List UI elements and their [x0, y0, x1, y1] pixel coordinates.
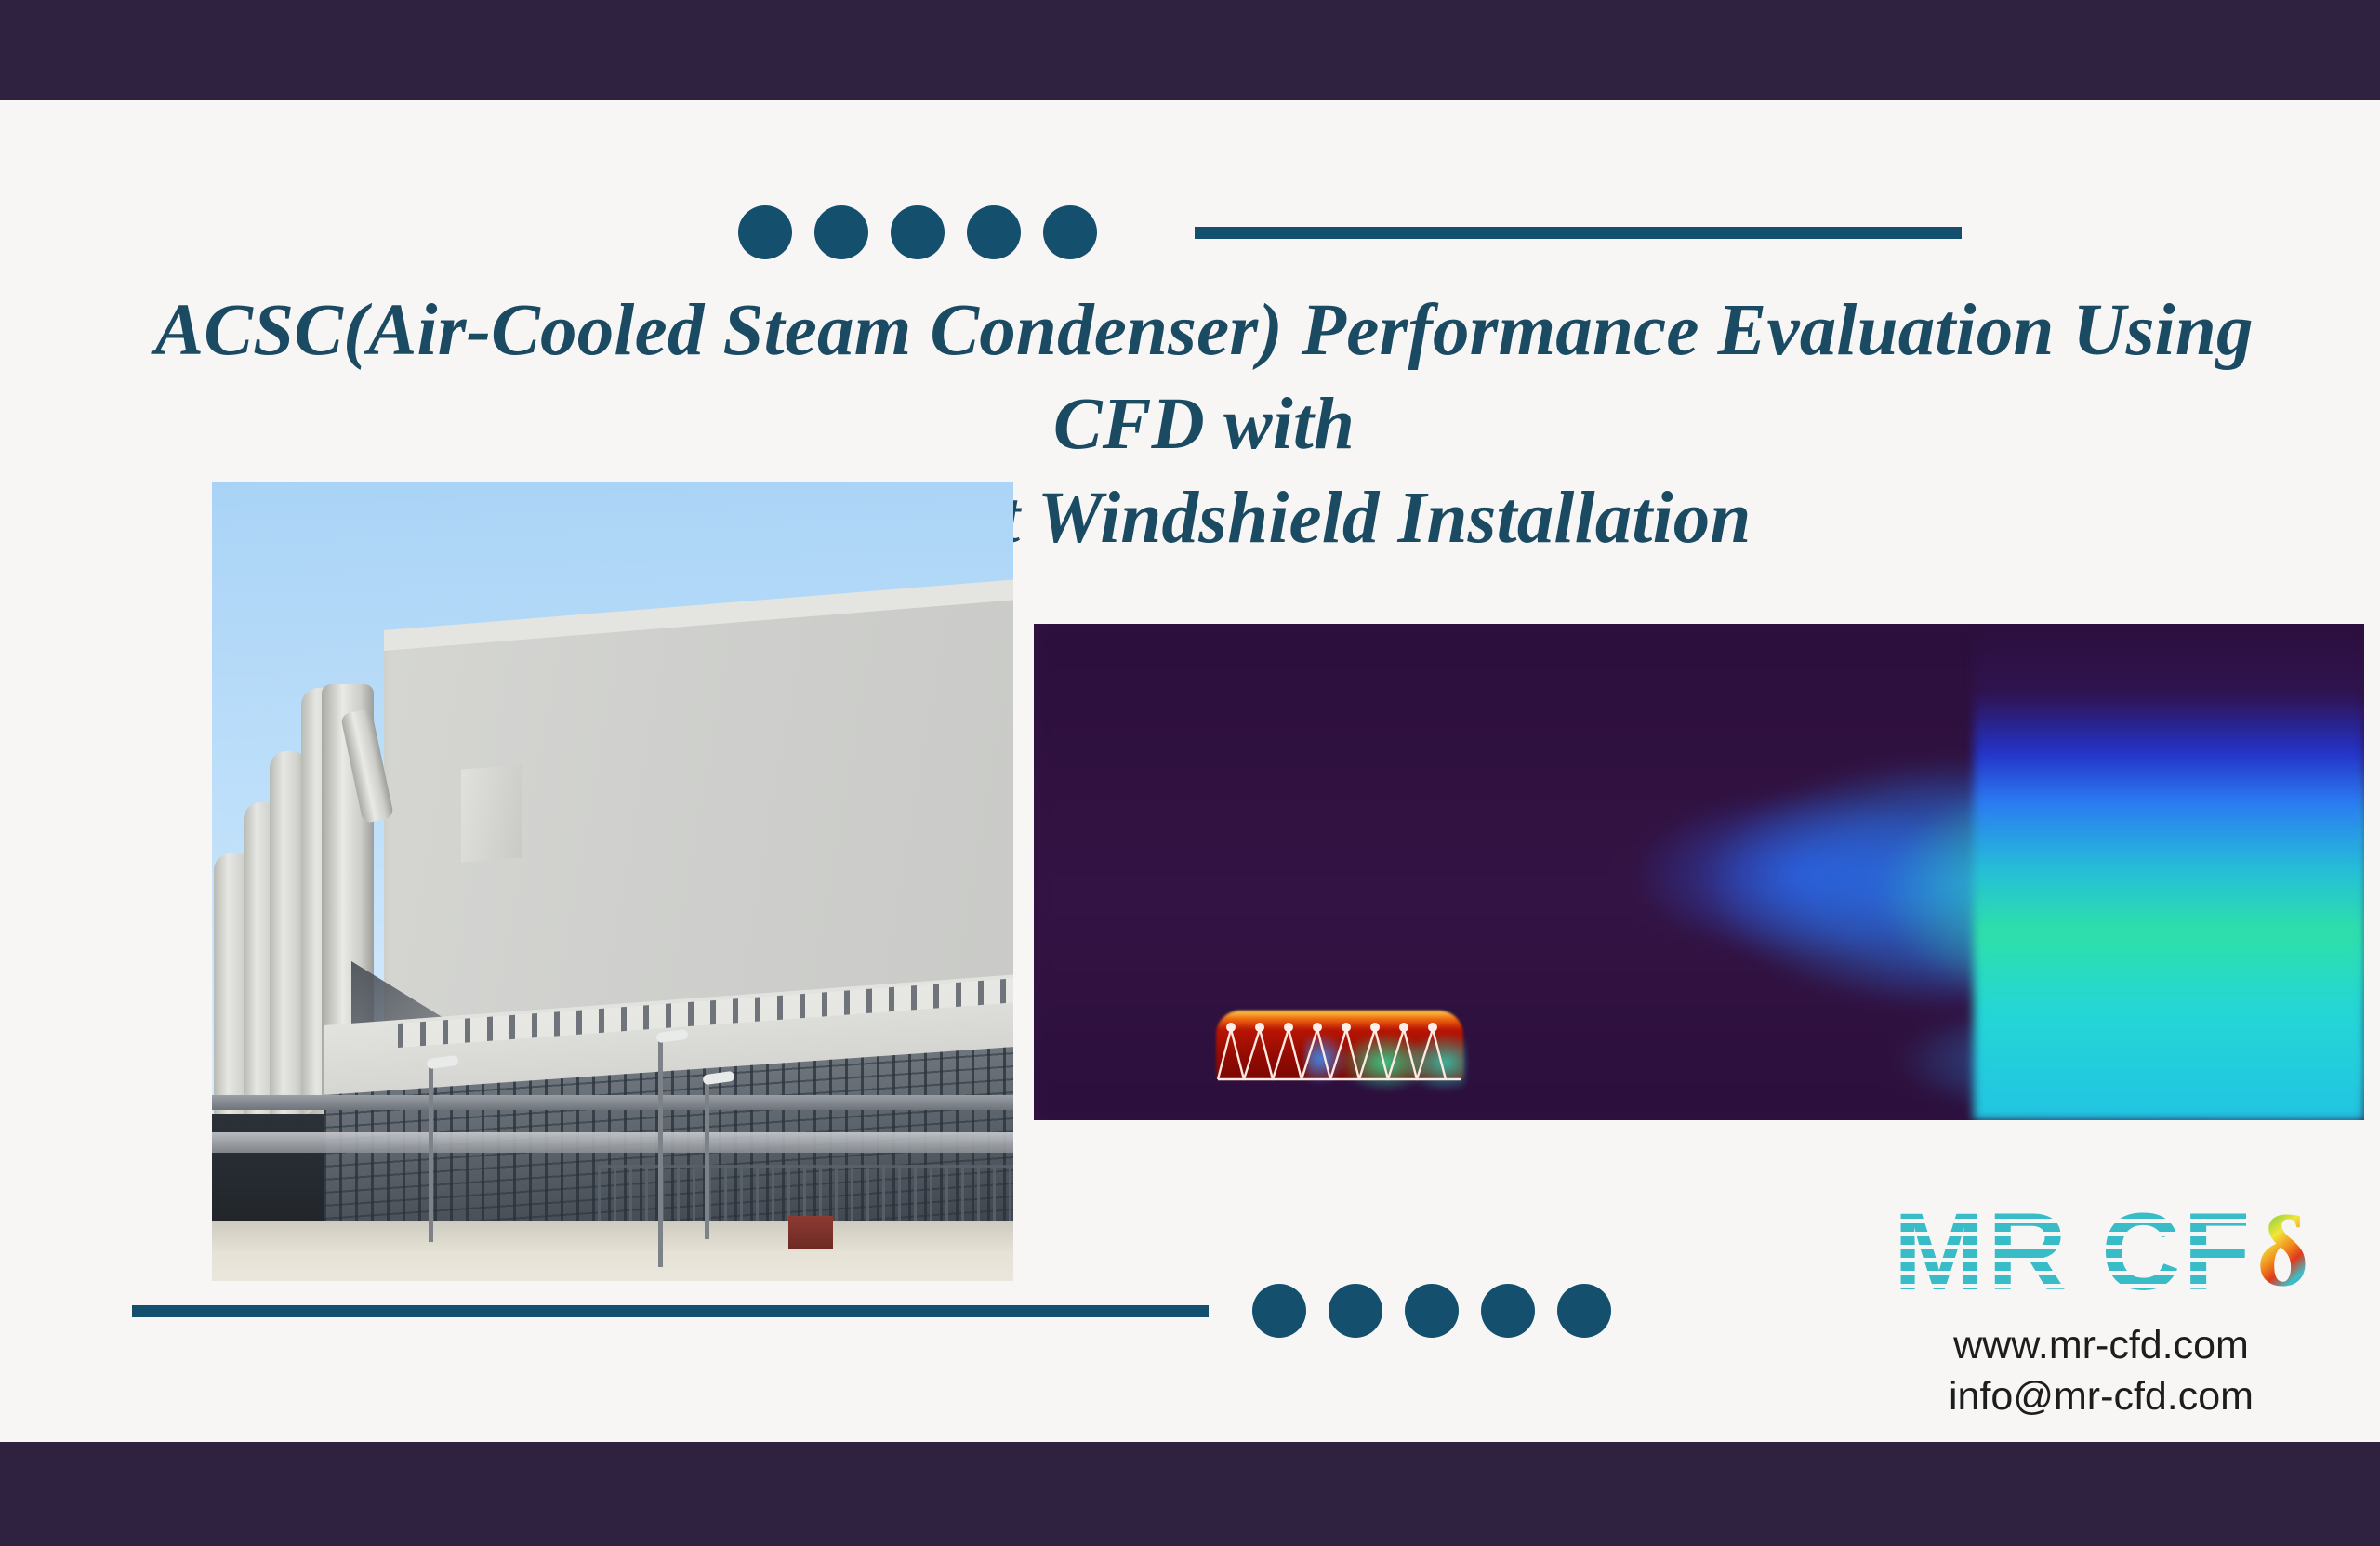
mr-cfd-logo-mark: MR CF δ: [1841, 1197, 2361, 1307]
presentation-slide: ACSC(Air-Cooled Steam Condenser) Perform…: [0, 0, 2380, 1546]
mr-cfd-logo-block: MR CF δ www.mr-cfd.com info@mr-cfd.com: [1841, 1197, 2361, 1411]
decorative-dot: [891, 205, 945, 259]
cfd-contour-image: [1034, 624, 2364, 1120]
photo-street-lamp: [429, 1065, 433, 1242]
logo-word-mr: MR: [1894, 1197, 2070, 1307]
cfd-downstream-gradient: [1974, 624, 2364, 1120]
photo-wall-box: [461, 764, 522, 862]
decorative-dot: [1405, 1284, 1459, 1338]
decorative-dot: [738, 205, 792, 259]
bottom-dot-row: [1252, 1284, 1633, 1338]
photo-ground: [212, 1221, 1013, 1281]
photo-barrel: [788, 1216, 833, 1249]
title-line-1: ACSC(Air-Cooled Steam Condenser) Perform…: [139, 284, 2268, 471]
cfd-a-frame-row: [1216, 1011, 1463, 1079]
top-dot-row: [738, 205, 1119, 259]
logo-delta-icon: δ: [2256, 1202, 2308, 1302]
bottom-rule: [132, 1305, 1209, 1317]
email-link[interactable]: info@mr-cfd.com: [1841, 1371, 2361, 1422]
decorative-dot: [967, 205, 1021, 259]
photo-pipe-rack-upper: [212, 1095, 1013, 1110]
contact-info: www.mr-cfd.com info@mr-cfd.com: [1841, 1320, 2361, 1422]
top-band: [0, 0, 2380, 100]
decorative-dot: [1557, 1284, 1611, 1338]
logo-word-cf: CF: [2101, 1197, 2253, 1307]
decorative-dot: [1481, 1284, 1535, 1338]
decorative-dot: [1043, 205, 1097, 259]
top-rule: [1195, 227, 1962, 239]
cfd-a-frame-outline: [1216, 1011, 1463, 1087]
acsc-plant-photo: [212, 482, 1013, 1281]
decorative-dot: [1252, 1284, 1306, 1338]
photo-street-lamp: [658, 1039, 663, 1267]
photo-pipe-rack-lower: [212, 1132, 1013, 1153]
decorative-dot: [1329, 1284, 1382, 1338]
website-link[interactable]: www.mr-cfd.com: [1841, 1320, 2361, 1371]
bottom-band: [0, 1442, 2380, 1546]
photo-street-lamp: [705, 1081, 709, 1239]
decorative-dot: [814, 205, 868, 259]
